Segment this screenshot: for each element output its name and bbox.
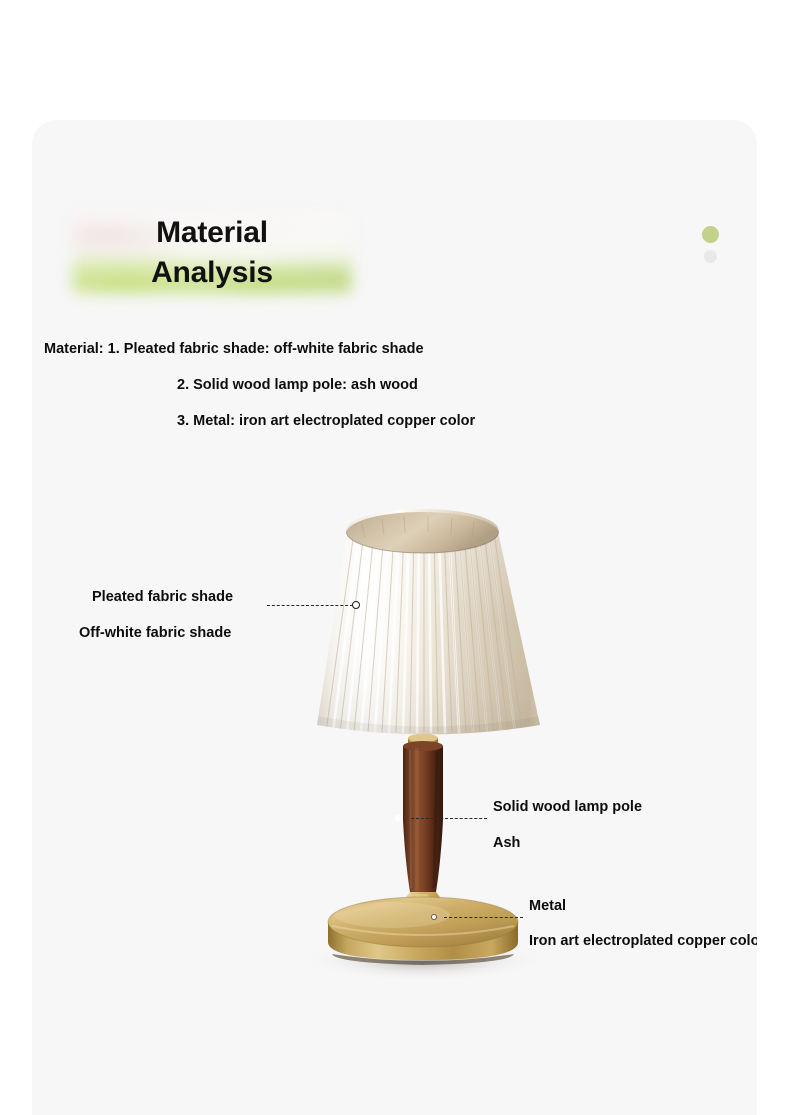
- callout-title-metal: Metal: [529, 897, 566, 917]
- callout-detail-metal: Iron art electroplated copper color: [529, 932, 757, 952]
- lamp-wood-pole: [403, 741, 443, 892]
- lamp-base: [328, 897, 518, 965]
- leader-marker-pleated-fabric-shade: [352, 601, 360, 609]
- leader-marker-metal: [431, 914, 437, 920]
- table-lamp-image: [32, 120, 757, 1115]
- leader-marker-solid-wood-lamp-pole: [395, 815, 401, 821]
- callout-detail-solid-wood-lamp-pole: Ash: [493, 834, 520, 854]
- leader-line-solid-wood-lamp-pole: [411, 818, 487, 819]
- callout-title-solid-wood-lamp-pole: Solid wood lamp pole: [493, 798, 642, 818]
- leader-line-pleated-fabric-shade: [267, 605, 353, 606]
- callout-title-pleated-fabric-shade: Pleated fabric shade: [92, 588, 233, 608]
- lamp-shade-group: [317, 509, 540, 755]
- callout-detail-pleated-fabric-shade: Off-white fabric shade: [79, 624, 231, 644]
- product-card: Material Analysis Material: 1. Pleated f…: [32, 120, 757, 1115]
- leader-line-metal: [444, 917, 523, 918]
